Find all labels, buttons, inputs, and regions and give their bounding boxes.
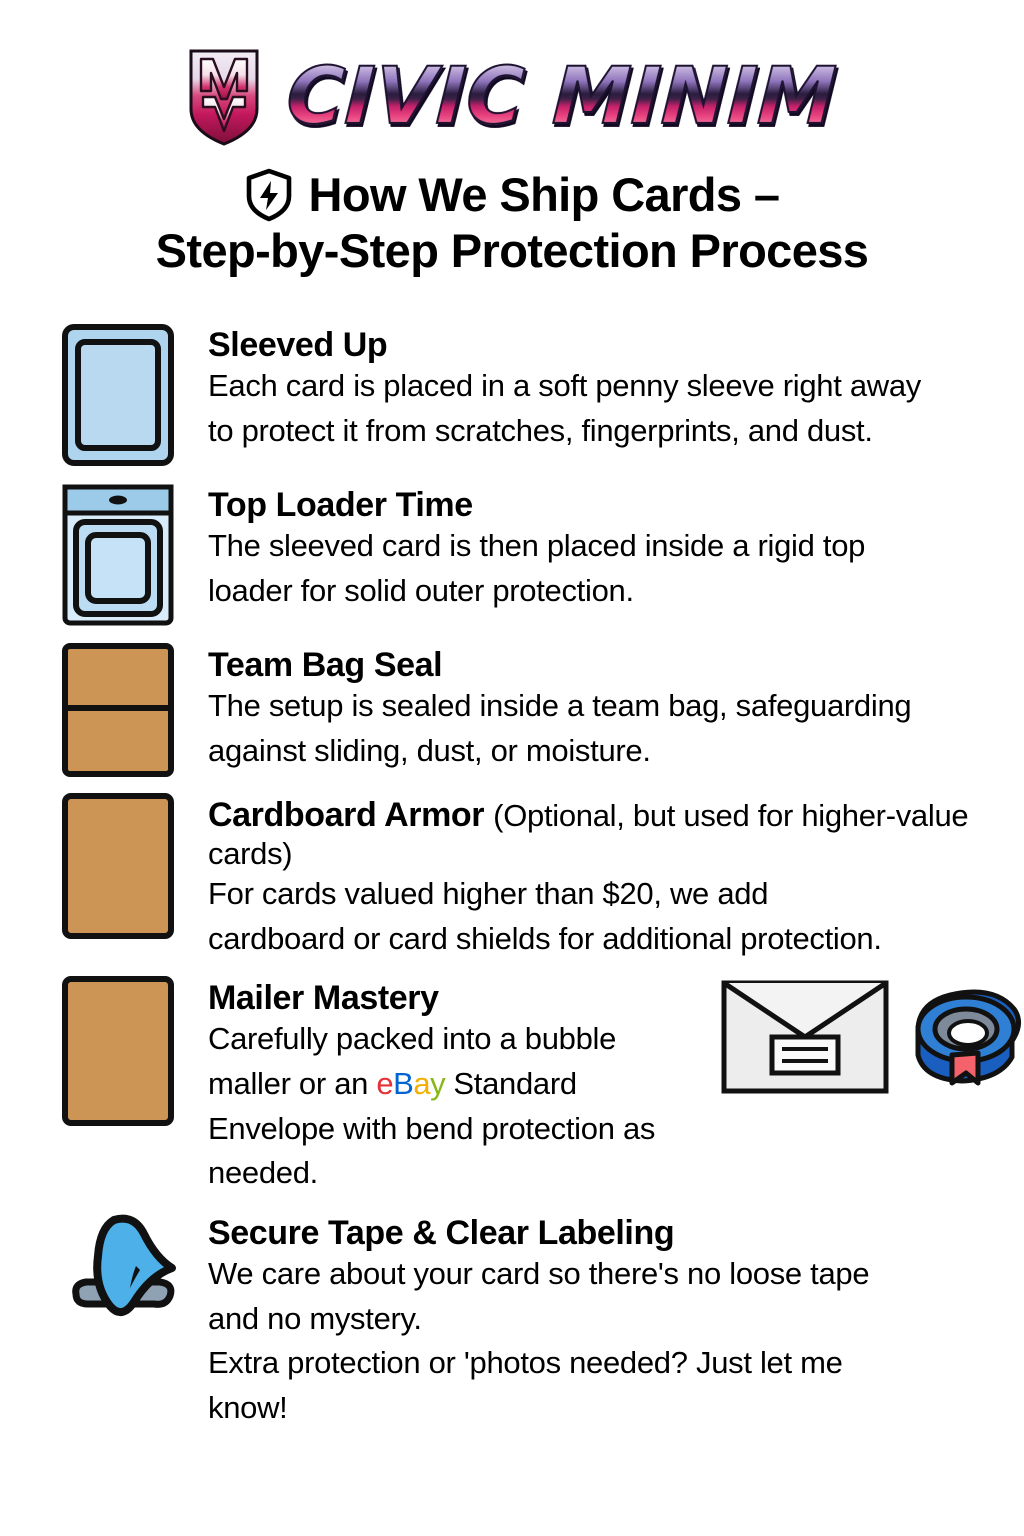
tape-roll-icon xyxy=(908,983,1024,1091)
page-title-line1: How We Ship Cards – xyxy=(0,168,1024,222)
step-description: Carefully packed into a bubble maller or… xyxy=(208,1017,700,1196)
bubble-mailer-icon xyxy=(60,975,186,1127)
step-title: Cardboard Armor (Optional, but used for … xyxy=(208,796,1020,872)
step-desc-line: loader for solid outer protection. xyxy=(208,569,1020,614)
step-title: Sleeved Up xyxy=(208,326,1020,364)
page-title: How We Ship Cards – Step-by-Step Protect… xyxy=(0,168,1024,279)
step-desc-line: against sliding, dust, or moisture. xyxy=(208,729,1020,774)
penny-sleeve-icon xyxy=(60,322,186,468)
step-secure-tape: Secure Tape & Clear Labeling We care abo… xyxy=(60,1210,1020,1431)
step-body: Team Bag Seal The setup is sealed inside… xyxy=(208,642,1020,773)
step-desc-line: For cards valued higher than $20, we add xyxy=(208,872,1020,917)
brand-wordmark: CIVIC MINIM xyxy=(285,58,839,136)
tape-strip-icon xyxy=(60,1210,186,1328)
ebay-wordmark: eBay xyxy=(376,1066,445,1101)
step-sleeved-up: Sleeved Up Each card is placed in a soft… xyxy=(60,322,1020,468)
step-title-main: Cardboard Armor xyxy=(208,796,484,834)
team-bag-icon xyxy=(60,642,186,778)
step-desc-line: and no mystery. xyxy=(208,1297,1020,1342)
step-desc-line: The setup is sealed inside a team bag, s… xyxy=(208,684,1020,729)
step-description: The setup is sealed inside a team bag, s… xyxy=(208,684,1020,773)
step-description: We care about your card so there's no lo… xyxy=(208,1252,1020,1431)
step-desc-line: We care about your card so there's no lo… xyxy=(208,1252,1020,1297)
infographic-page: CIVIC MINIM How We Ship Cards – Step-by-… xyxy=(0,0,1024,1536)
step-desc-line: Each card is placed in a soft penny slee… xyxy=(208,364,1020,409)
step-body: Cardboard Armor (Optional, but used for … xyxy=(208,792,1020,961)
step-top-loader: Top Loader Time The sleeved card is then… xyxy=(60,482,1020,628)
step-description: The sleeved card is then placed inside a… xyxy=(208,524,1020,613)
step-title: Secure Tape & Clear Labeling xyxy=(208,1214,1020,1252)
envelope-icon xyxy=(720,979,890,1095)
mailer-media-group xyxy=(720,979,1024,1095)
step-description: For cards valued higher than $20, we add… xyxy=(208,872,1020,961)
step-desc-line: cardboard or card shields for additional… xyxy=(208,917,1020,962)
step-body: Sleeved Up Each card is placed in a soft… xyxy=(208,322,1020,453)
top-loader-icon xyxy=(60,482,186,628)
step-description: Each card is placed in a soft penny slee… xyxy=(208,364,1020,453)
step-desc-line: know! xyxy=(208,1386,1020,1431)
brand-header: CIVIC MINIM xyxy=(0,42,1024,152)
step-body: Top Loader Time The sleeved card is then… xyxy=(208,482,1020,613)
step-body: Secure Tape & Clear Labeling We care abo… xyxy=(208,1210,1020,1431)
step-desc-line: The sleeved card is then placed inside a… xyxy=(208,524,1020,569)
steps-list: Sleeved Up Each card is placed in a soft… xyxy=(60,322,1020,1445)
step-cardboard-armor: Cardboard Armor (Optional, but used for … xyxy=(60,792,1020,961)
step-title: Mailer Mastery xyxy=(208,979,700,1017)
step-desc-line: Extra protection or 'photos needed? Just… xyxy=(208,1341,1020,1386)
page-title-text-1: How We Ship Cards – xyxy=(309,168,780,222)
step-team-bag: Team Bag Seal The setup is sealed inside… xyxy=(60,642,1020,778)
step-desc-line: to protect it from scratches, fingerprin… xyxy=(208,409,1020,454)
cardboard-armor-icon xyxy=(60,792,186,940)
step-title: Team Bag Seal xyxy=(208,646,1020,684)
shield-bolt-icon xyxy=(245,168,293,222)
step-title: Top Loader Time xyxy=(208,486,1020,524)
shield-m-monogram-icon xyxy=(187,47,261,147)
step-mailer-mastery: Mailer Mastery Carefully packed into a b… xyxy=(60,975,1020,1196)
page-title-text-2: Step-by-Step Protection Process xyxy=(0,224,1024,279)
